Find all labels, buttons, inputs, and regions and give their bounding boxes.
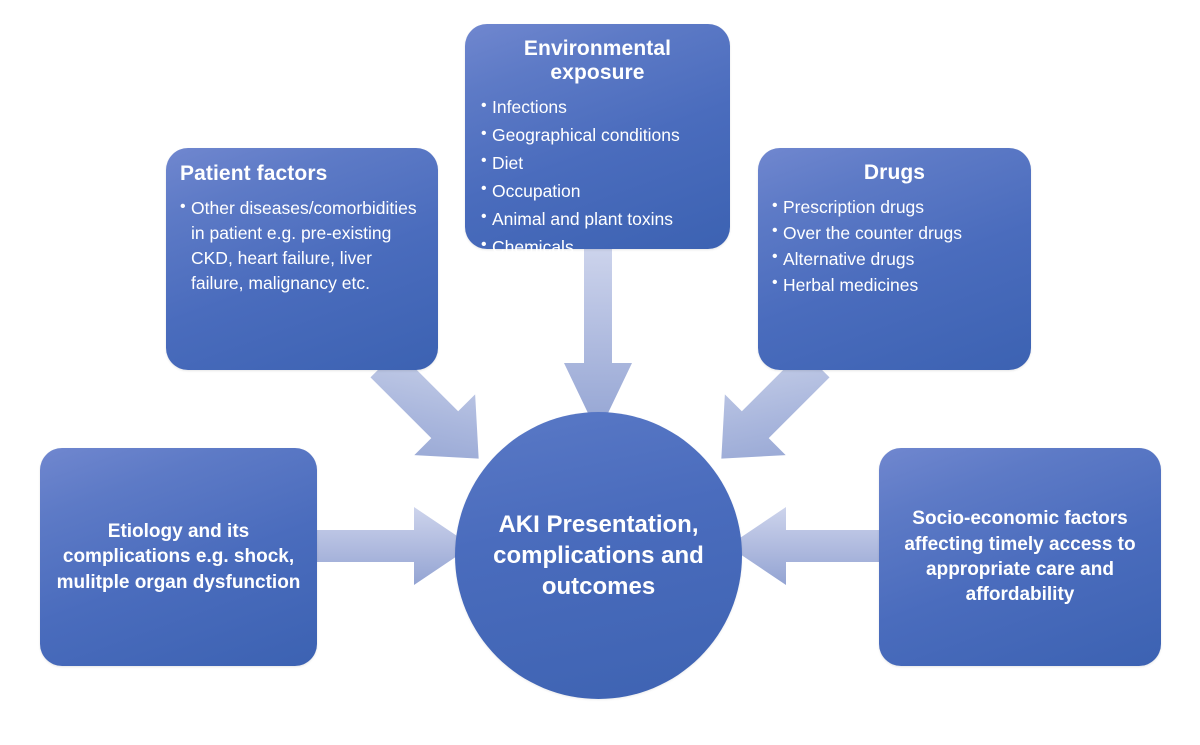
node-patient-factors[interactable]: Patient factors Other diseases/comorbidi… [166, 148, 438, 370]
node-center-text: AKI Presentation, complications and outc… [455, 509, 742, 603]
node-drugs-title: Drugs [772, 161, 1017, 185]
arrow-drugs-to-center [698, 355, 838, 470]
diagram-canvas: Environmental exposure Infections Geogra… [0, 0, 1200, 745]
list-item: Other diseases/comorbidities in patient … [180, 196, 426, 295]
arrow-socio-to-center [726, 505, 886, 587]
list-item: Diet [481, 151, 714, 176]
node-aki-center[interactable]: AKI Presentation, complications and outc… [455, 412, 742, 699]
list-item: Alternative drugs [772, 247, 1017, 272]
arrow-patient-to-center [362, 355, 502, 470]
list-item: Occupation [481, 179, 714, 204]
node-environmental-exposure[interactable]: Environmental exposure Infections Geogra… [465, 24, 730, 249]
node-environmental-title: Environmental exposure [481, 37, 714, 85]
arrow-environmental-to-center [562, 246, 634, 436]
node-etiology-text: Etiology and its complications e.g. shoc… [56, 519, 301, 595]
list-item: Herbal medicines [772, 273, 1017, 298]
list-item: Infections [481, 95, 714, 120]
node-etiology-and-complications[interactable]: Etiology and its complications e.g. shoc… [40, 448, 317, 666]
list-item: Over the counter drugs [772, 221, 1017, 246]
list-item: Prescription drugs [772, 195, 1017, 220]
list-item: Chemicals [481, 235, 714, 260]
node-patient-bullets: Other diseases/comorbidities in patient … [180, 196, 426, 295]
node-socio-economic-factors[interactable]: Socio-economic factors affecting timely … [879, 448, 1161, 666]
list-item: Geographical conditions [481, 123, 714, 148]
node-drugs-bullets: Prescription drugs Over the counter drug… [772, 195, 1017, 297]
list-item: Animal and plant toxins [481, 207, 714, 232]
arrow-etiology-to-center [314, 505, 474, 587]
node-environmental-bullets: Infections Geographical conditions Diet … [481, 95, 714, 259]
node-patient-title: Patient factors [180, 162, 426, 186]
node-drugs[interactable]: Drugs Prescription drugs Over the counte… [758, 148, 1031, 370]
node-socio-text: Socio-economic factors affecting timely … [895, 506, 1145, 607]
